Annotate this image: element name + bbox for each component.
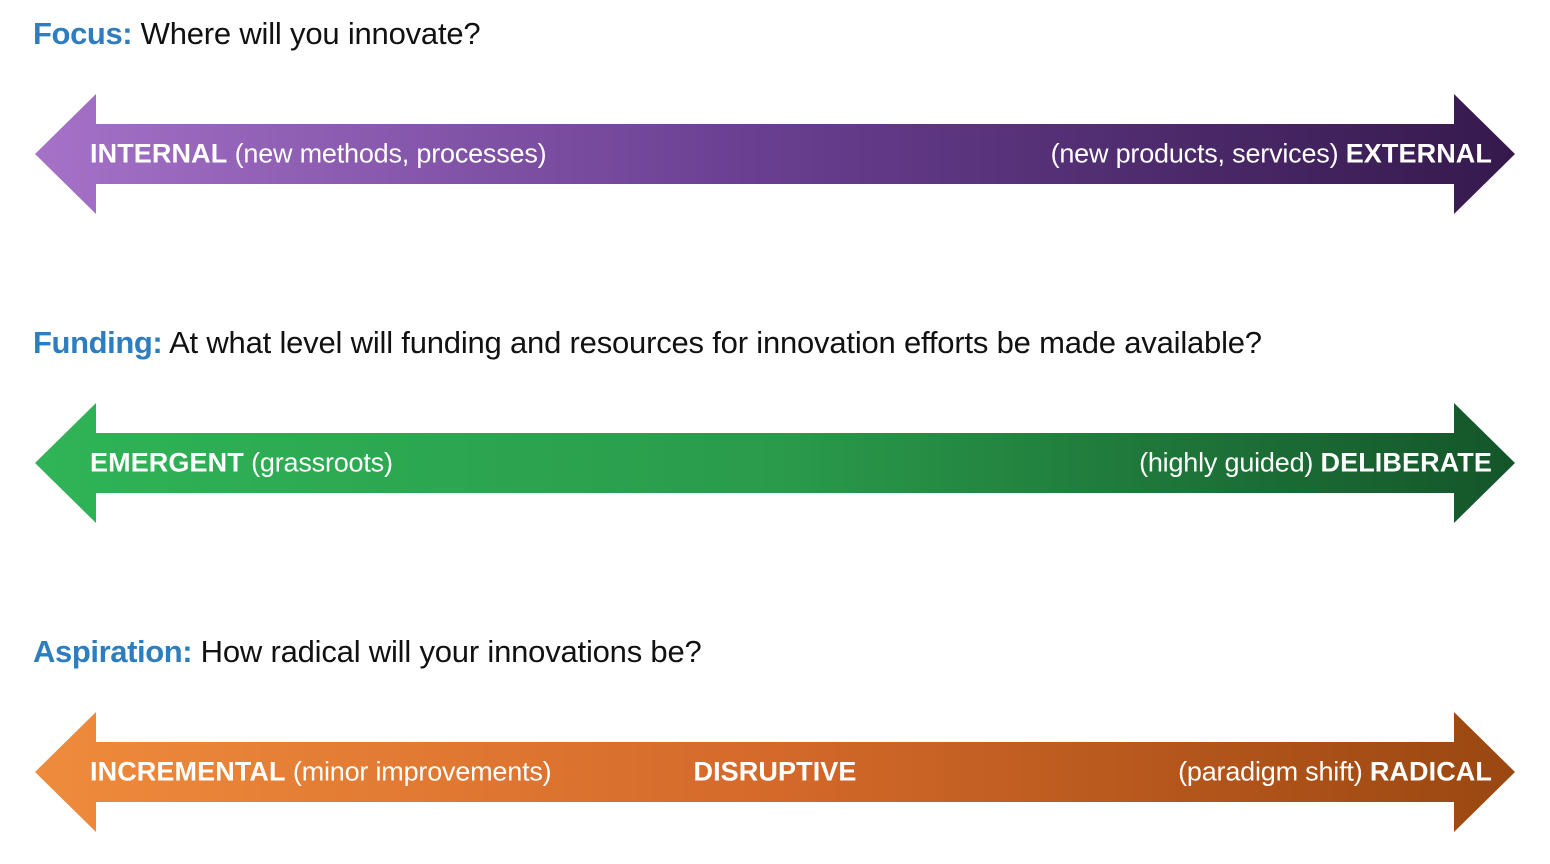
- focus-label-right-paren: (new products, services): [1051, 139, 1339, 169]
- funding-label-right: (highly guided) DELIBERATE: [1139, 450, 1492, 477]
- focus-label-right-bold: EXTERNAL: [1346, 139, 1492, 169]
- focus-arrow-labels: INTERNAL (new methods, processes) (new p…: [0, 90, 1550, 218]
- heading-question-funding: At what level will funding and resources…: [169, 325, 1262, 360]
- heading-lead-aspiration: Aspiration:: [33, 634, 192, 669]
- focus-label-left: INTERNAL (new methods, processes): [90, 141, 546, 168]
- aspiration-label-right: (paradigm shift) RADICAL: [1178, 759, 1492, 786]
- funding-spectrum-arrow: EMERGENT (grassroots) (highly guided) DE…: [0, 399, 1550, 527]
- heading-question-aspiration: How radical will your innovations be?: [201, 634, 702, 669]
- heading-lead-focus: Focus:: [33, 16, 132, 51]
- funding-arrow-labels: EMERGENT (grassroots) (highly guided) DE…: [0, 399, 1550, 527]
- innovation-spectrums-diagram: Focus: Where will you innovate? INTERNAL…: [0, 0, 1550, 864]
- funding-label-left: EMERGENT (grassroots): [90, 450, 393, 477]
- section-heading-focus: Focus: Where will you innovate?: [33, 18, 480, 49]
- focus-spectrum-arrow: INTERNAL (new methods, processes) (new p…: [0, 90, 1550, 218]
- aspiration-spectrum-arrow: INCREMENTAL (minor improvements) DISRUPT…: [0, 708, 1550, 836]
- funding-label-right-bold: DELIBERATE: [1320, 448, 1492, 478]
- funding-label-left-bold: EMERGENT: [90, 448, 244, 478]
- focus-label-right: (new products, services) EXTERNAL: [1051, 141, 1492, 168]
- heading-lead-funding: Funding:: [33, 325, 162, 360]
- aspiration-label-right-paren: (paradigm shift): [1178, 757, 1362, 787]
- funding-label-right-paren: (highly guided): [1139, 448, 1313, 478]
- aspiration-label-center-bold: DISRUPTIVE: [693, 757, 856, 787]
- section-heading-funding: Funding: At what level will funding and …: [33, 327, 1262, 358]
- aspiration-label-right-bold: RADICAL: [1370, 757, 1492, 787]
- aspiration-arrow-labels: INCREMENTAL (minor improvements) DISRUPT…: [0, 708, 1550, 836]
- funding-label-left-paren: (grassroots): [251, 448, 393, 478]
- focus-label-left-bold: INTERNAL: [90, 139, 227, 169]
- heading-question-focus: Where will you innovate?: [141, 16, 481, 51]
- section-heading-aspiration: Aspiration: How radical will your innova…: [33, 636, 702, 667]
- focus-label-left-paren: (new methods, processes): [235, 139, 547, 169]
